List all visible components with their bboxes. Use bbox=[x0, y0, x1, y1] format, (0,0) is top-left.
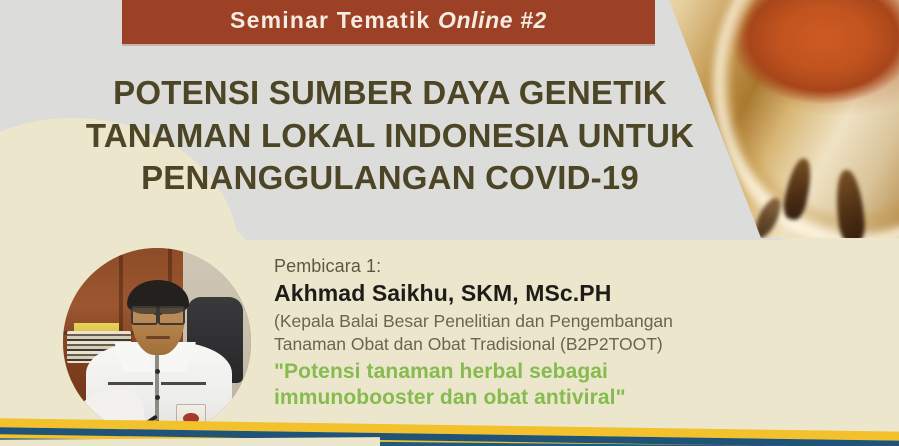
speaker-topic-quote-line-2: immunobooster dan obat antiviral" bbox=[274, 385, 874, 411]
banner-title-regular: Seminar Tematik bbox=[230, 7, 438, 33]
speaker-affiliation-line-2: Tanaman Obat dan Obat Tradisional (B2P2T… bbox=[274, 333, 874, 355]
speaker-role-label: Pembicara 1: bbox=[274, 255, 874, 278]
portrait-pocket-left bbox=[108, 382, 153, 385]
seminar-poster: Seminar Tematik Online #2 POTENSI SUMBER… bbox=[0, 0, 899, 446]
speaker-topic-quote-line-1: "Potensi tanaman herbal sebagai bbox=[274, 359, 874, 385]
glasses-bridge bbox=[154, 313, 163, 315]
glasses-icon bbox=[131, 306, 186, 321]
banner-title-italic: Online #2 bbox=[438, 7, 547, 33]
speaker-affiliation: (Kepala Balai Besar Penelitian dan Penge… bbox=[274, 310, 874, 355]
speaker-name: Akhmad Saikhu, SKM, MSc.PH bbox=[274, 279, 874, 308]
page-title-line-2: TANAMAN LOKAL INDONESIA UNTUK bbox=[0, 115, 780, 158]
page-title-line-1: POTENSI SUMBER DAYA GENETIK bbox=[0, 72, 780, 115]
portrait-pocket-right bbox=[161, 382, 206, 385]
glasses-lens-right bbox=[158, 306, 185, 325]
page-title: POTENSI SUMBER DAYA GENETIK TANAMAN LOKA… bbox=[0, 72, 780, 200]
seminar-banner: Seminar Tematik Online #2 bbox=[122, 0, 655, 44]
avatar bbox=[63, 248, 251, 436]
portrait-mouth bbox=[146, 336, 170, 339]
speaker-affiliation-line-1: (Kepala Balai Besar Penelitian dan Penge… bbox=[274, 310, 874, 332]
glasses-lens-left bbox=[131, 306, 158, 325]
clove-icon bbox=[833, 169, 867, 238]
speaker-topic-quote: "Potensi tanaman herbal sebagai immunobo… bbox=[274, 359, 874, 411]
banner-title: Seminar Tematik Online #2 bbox=[230, 7, 547, 34]
page-title-line-3: PENANGGULANGAN COVID-19 bbox=[0, 157, 780, 200]
speaker-info: Pembicara 1: Akhmad Saikhu, SKM, MSc.PH … bbox=[274, 255, 874, 411]
bottom-cream-wedge bbox=[0, 437, 380, 446]
clove-icon bbox=[781, 156, 815, 221]
cabinet-divider bbox=[119, 248, 123, 334]
